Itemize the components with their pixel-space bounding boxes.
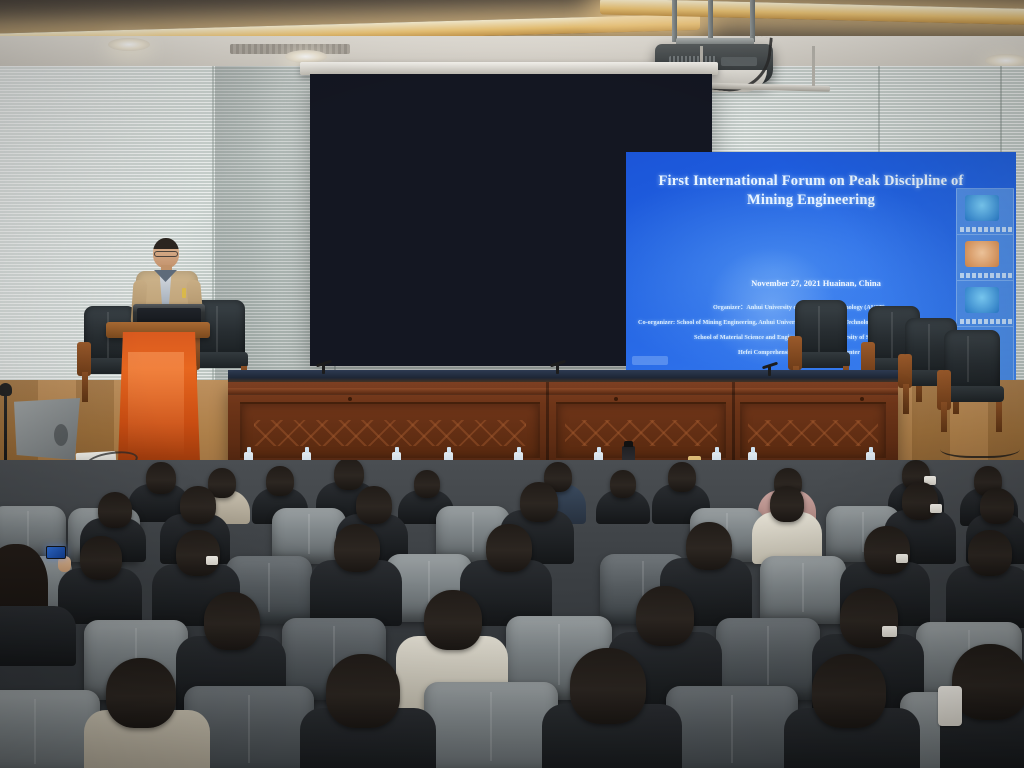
- audience-head: [106, 658, 176, 728]
- video-tile: [957, 189, 1013, 235]
- auditorium-seat[interactable]: [424, 682, 558, 768]
- audience-head: [414, 470, 440, 498]
- audience-head: [486, 524, 532, 572]
- audience-head: [686, 522, 732, 570]
- slide-title-line-1: First International Forum on Peak Discip…: [626, 172, 996, 191]
- face-mask: [938, 686, 962, 726]
- audience-head: [952, 644, 1024, 720]
- smartphone[interactable]: [46, 546, 66, 559]
- floor-cable: [940, 436, 1020, 458]
- audience-head: [668, 462, 696, 492]
- slide-date-location: November 27, 2021 Huainan, China: [666, 278, 966, 288]
- audience-person: [0, 606, 76, 666]
- desk-microphone: [768, 366, 771, 376]
- audience-head: [176, 530, 220, 576]
- face-mask: [896, 554, 908, 563]
- audience-head: [864, 526, 910, 574]
- audience-head: [770, 486, 804, 522]
- stage-loudspeaker: [14, 398, 80, 460]
- slide-title-line-2: Mining Engineering: [626, 191, 996, 210]
- audience-head: [570, 648, 646, 724]
- audience-head: [840, 588, 898, 648]
- video-tile: [957, 235, 1013, 281]
- slide-corner-badge: [632, 356, 668, 365]
- slide-title: First International Forum on Peak Discip…: [626, 172, 996, 210]
- desk-microphone: [556, 364, 559, 374]
- face-mask: [206, 556, 218, 565]
- audience-head: [980, 488, 1014, 524]
- audience-head: [968, 530, 1012, 576]
- audience-head: [334, 524, 380, 572]
- face-mask: [882, 626, 897, 637]
- audience-head: [80, 536, 122, 580]
- conference-hall-photo: First International Forum on Peak Discip…: [0, 0, 1024, 768]
- glasses-icon: [154, 251, 178, 257]
- audience-head: [204, 592, 260, 650]
- presenter-badge: [182, 288, 186, 298]
- audience-head: [334, 460, 364, 490]
- auditorium-seat[interactable]: [666, 686, 798, 768]
- audience-head: [610, 470, 636, 498]
- audience-head: [180, 486, 216, 524]
- audience-head: [146, 462, 176, 494]
- projection-screen-frame: First International Forum on Peak Discip…: [310, 74, 712, 366]
- face-mask: [930, 504, 942, 513]
- audience-head: [520, 482, 558, 522]
- audience-head: [326, 654, 400, 728]
- audience-head: [424, 590, 482, 650]
- downlight-3: [108, 38, 150, 51]
- head-table: [228, 382, 898, 470]
- audience-head: [98, 492, 132, 528]
- desk-microphone: [322, 364, 325, 374]
- video-tile: [957, 281, 1013, 327]
- audience-head: [812, 654, 886, 728]
- audience-head: [266, 466, 294, 496]
- audience-head: [636, 586, 694, 646]
- audience-area: [0, 460, 1024, 768]
- audience-head: [902, 482, 938, 520]
- audience-head: [356, 486, 392, 524]
- auditorium-seat[interactable]: [760, 556, 846, 624]
